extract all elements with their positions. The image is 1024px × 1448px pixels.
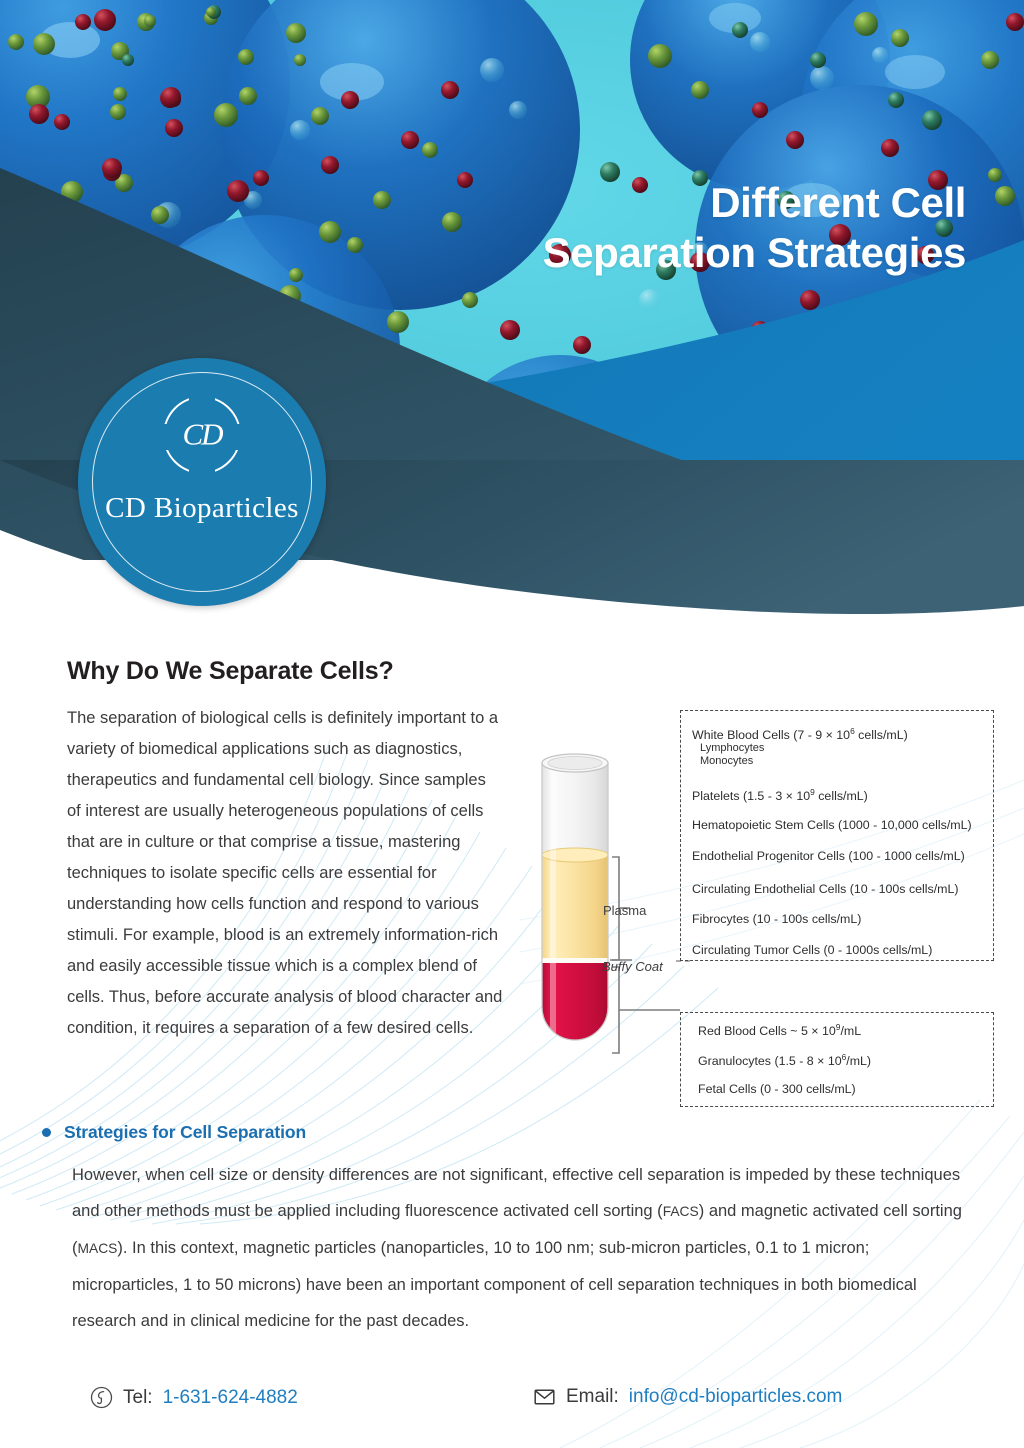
tel-value[interactable]: 1-631-624-4882 xyxy=(163,1387,298,1409)
body-paragraph: However, when cell size or density diffe… xyxy=(72,1157,962,1339)
logo-brand-name: CD Bioparticles xyxy=(78,492,326,525)
phone-icon xyxy=(90,1386,113,1409)
label-buffy-coat: Buffy Coat xyxy=(602,959,663,974)
cell-line-circulating-tumor-cells: Circulating Tumor Cells (0 - 1000s cells… xyxy=(692,943,932,959)
tel-label: Tel: xyxy=(123,1387,153,1409)
logo-monogram-notch-bottom xyxy=(189,468,215,477)
cell-line-platelets: Platelets (1.5 - 3 × 109 cells/mL) xyxy=(692,787,868,805)
footer: Tel: 1-631-624-4882 Email: info@cd-biopa… xyxy=(0,1380,1024,1448)
cell-line-granulocytes: Granulocytes (1.5 - 8 × 106/mL) xyxy=(698,1052,871,1070)
email-value[interactable]: info@cd-bioparticles.com xyxy=(629,1386,843,1408)
email-label: Email: xyxy=(566,1386,619,1408)
footer-telephone[interactable]: Tel: 1-631-624-4882 xyxy=(90,1386,298,1409)
footer-email[interactable]: Email: info@cd-bioparticles.com xyxy=(533,1386,842,1408)
page-title: Different Cell Separation Strategies xyxy=(543,178,966,277)
cell-line-red-blood-cells: Red Blood Cells ~ 5 × 109/mL xyxy=(698,1022,861,1040)
strategies-heading-row: Strategies for Cell Separation xyxy=(42,1122,306,1143)
cell-subline-monocytes: Monocytes xyxy=(700,755,753,767)
logo-monogram-badge: CD xyxy=(163,396,241,474)
cell-line-fibrocytes: Fibrocytes (10 - 100s cells/mL) xyxy=(692,912,861,928)
cell-subline-lymphocytes: Lymphocytes xyxy=(700,742,764,754)
label-plasma: Plasma xyxy=(603,903,646,918)
intro-paragraph: The separation of biological cells is de… xyxy=(67,703,503,1044)
cell-line-hematopoietic-stem-cells: Hematopoietic Stem Cells (1000 - 10,000 … xyxy=(692,818,972,834)
logo-monogram-notch-top xyxy=(189,393,215,402)
acronym-facs: FACS xyxy=(663,1204,699,1219)
logo[interactable]: CD CD Bioparticles xyxy=(78,358,326,606)
cell-line-fetal-cells: Fetal Cells (0 - 300 cells/mL) xyxy=(698,1082,856,1098)
envelope-icon xyxy=(533,1387,556,1407)
bullet-icon xyxy=(42,1128,51,1137)
body-part-3: ). In this context, magnetic particles (… xyxy=(72,1239,917,1330)
cell-line-white-blood-cells: White Blood Cells (7 - 9 × 106 cells/mL) xyxy=(692,726,908,744)
acronym-macs: MACS xyxy=(78,1241,118,1256)
cell-line-circulating-endothelial-cells: Circulating Endothelial Cells (10 - 100s… xyxy=(692,882,959,898)
section-title: Why Do We Separate Cells? xyxy=(67,657,394,686)
logo-monogram-text: CD xyxy=(163,416,241,452)
cell-line-endothelial-progenitor-cells: Endothelial Progenitor Cells (100 - 1000… xyxy=(692,849,965,865)
strategies-heading: Strategies for Cell Separation xyxy=(64,1122,306,1143)
